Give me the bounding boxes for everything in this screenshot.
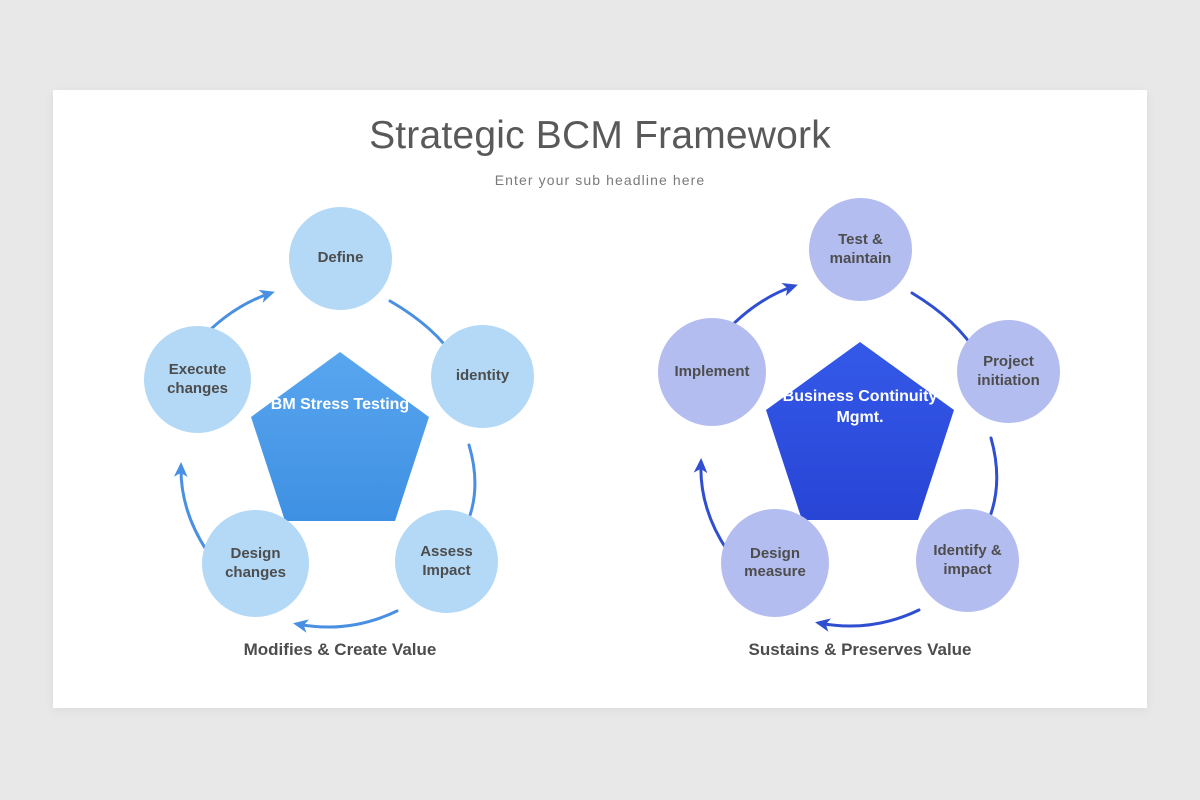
right-core-pentagon — [766, 342, 954, 520]
right-caption: Sustains & Preserves Value — [610, 640, 1110, 660]
arrow-assess-impact-to-design-changes — [297, 611, 397, 627]
node-label: Define — [318, 249, 364, 267]
node-implement[interactable]: Implement — [658, 318, 766, 426]
node-label: Execute changes — [148, 361, 247, 398]
node-design-measure[interactable]: Design measure — [721, 509, 829, 617]
node-project-initiation[interactable]: Project initiation — [957, 320, 1060, 423]
node-label: Assess Impact — [399, 543, 494, 580]
node-identify-impact[interactable]: Identify & impact — [916, 509, 1019, 612]
slide-stage: Strategic BCM Framework Enter your sub h… — [0, 0, 1200, 800]
arrow-identify-impact-to-design-measure — [819, 610, 919, 626]
arrow-design-measure-to-implement — [701, 462, 727, 550]
node-label: Project initiation — [961, 353, 1056, 390]
node-label: Implement — [674, 363, 749, 381]
node-label: Design measure — [725, 545, 825, 582]
node-label: identity — [456, 367, 509, 385]
node-test-maintain[interactable]: Test & maintain — [809, 198, 912, 301]
diagram-business-continuity-mgmt: Business Continuity Mgmt. Test & maintai… — [610, 210, 1110, 680]
node-label: Test & maintain — [813, 231, 908, 268]
node-execute-changes[interactable]: Execute changes — [144, 326, 251, 433]
node-design-changes[interactable]: Design changes — [202, 510, 309, 617]
node-identity[interactable]: identity — [431, 325, 534, 428]
node-assess-impact[interactable]: Assess Impact — [395, 510, 498, 613]
arrow-design-changes-to-execute-changes — [181, 466, 207, 551]
left-caption: Modifies & Create Value — [90, 640, 590, 660]
node-label: Identify & impact — [920, 542, 1015, 579]
left-core-pentagon — [251, 352, 429, 521]
page-title: Strategic BCM Framework — [53, 115, 1147, 158]
node-define[interactable]: Define — [289, 207, 392, 310]
node-label: Design changes — [206, 545, 305, 582]
slide-card: Strategic BCM Framework Enter your sub h… — [53, 90, 1147, 708]
page-subtitle: Enter your sub headline here — [53, 172, 1147, 188]
diagram-bm-stress-testing: BM Stress Testing Define identity Assess… — [90, 210, 590, 680]
